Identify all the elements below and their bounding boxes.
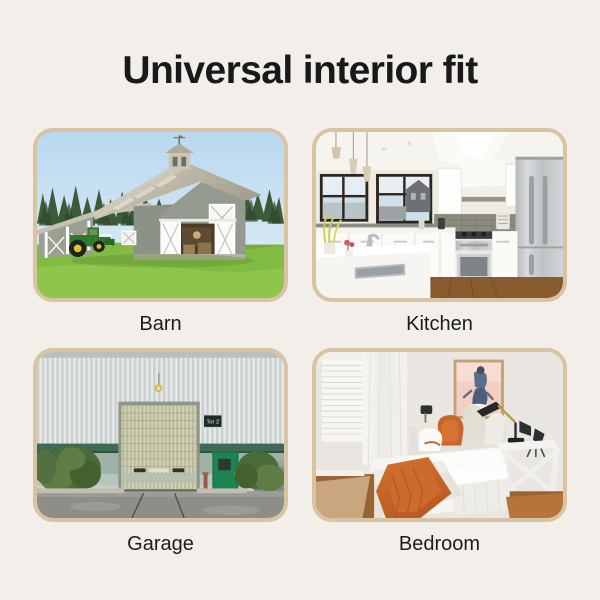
card-bedroom[interactable]: Bedroom bbox=[312, 348, 567, 562]
caption-barn: Barn bbox=[33, 302, 288, 342]
caption-bedroom: Bedroom bbox=[312, 522, 567, 562]
feature-grid: Barn bbox=[33, 128, 567, 562]
card-garage[interactable]: Tor 2 bbox=[33, 348, 288, 562]
grid-row-2: Tor 2 bbox=[33, 348, 567, 562]
card-image-frame-barn[interactable] bbox=[33, 128, 288, 302]
garage-sign: Tor 2 bbox=[204, 415, 222, 427]
caption-garage: Garage bbox=[33, 522, 288, 562]
bedroom-illustration bbox=[316, 352, 563, 518]
card-image-frame-garage[interactable]: Tor 2 bbox=[33, 348, 288, 522]
card-image-frame-kitchen[interactable] bbox=[312, 128, 567, 302]
caption-kitchen: Kitchen bbox=[312, 302, 567, 342]
page-title: Universal interior fit bbox=[0, 48, 600, 94]
card-kitchen[interactable]: Kitchen bbox=[312, 128, 567, 342]
grid-row-1: Barn bbox=[33, 128, 567, 342]
svg-text:Tor 2: Tor 2 bbox=[206, 420, 219, 426]
card-barn[interactable]: Barn bbox=[33, 128, 288, 342]
card-image-frame-bedroom[interactable] bbox=[312, 348, 567, 522]
garage-illustration: Tor 2 bbox=[37, 352, 284, 518]
kitchen-illustration bbox=[316, 132, 563, 298]
shrub-left bbox=[37, 445, 101, 491]
barn-illustration bbox=[37, 132, 284, 298]
promo-panel: Universal interior fit bbox=[0, 0, 600, 600]
